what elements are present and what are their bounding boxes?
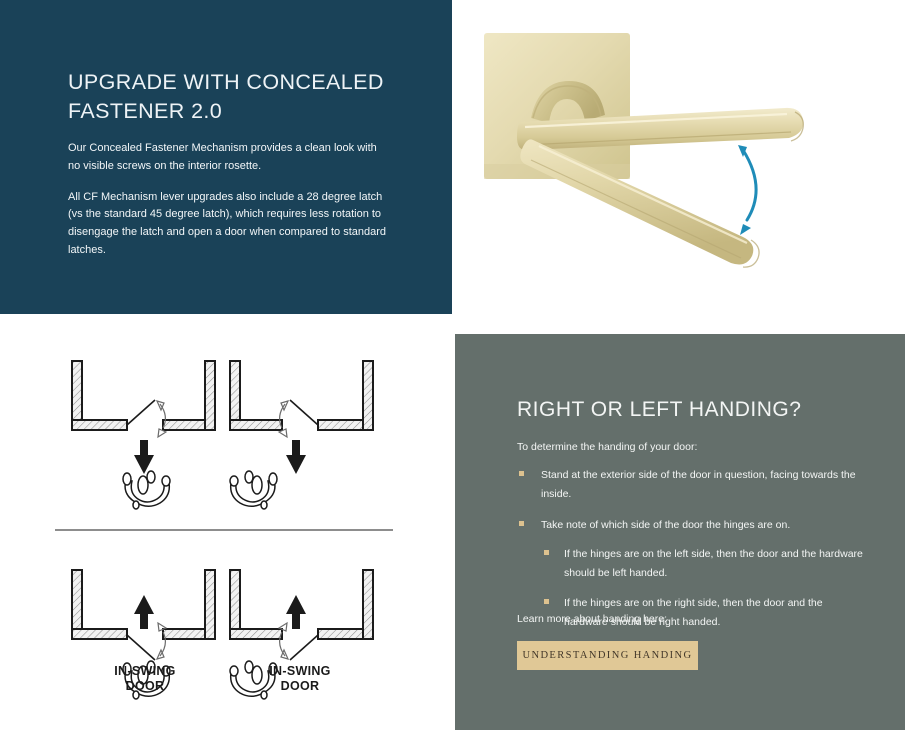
concealed-fastener-paragraph-2: All CF Mechanism lever upgrades also inc… — [68, 189, 386, 260]
diagram-quadrant-inswing-right — [230, 361, 373, 509]
handing-info-intro: To determine the handing of your door: — [517, 440, 867, 456]
swing-direction-arrow — [134, 440, 154, 474]
handing-diagram-panel: IN-SWING DOOR IN-SWING DOOR LEFT (LH) RI… — [0, 322, 452, 747]
right-hand-icon — [230, 471, 277, 509]
concealed-fastener-paragraph-1: Our Concealed Fastener Mechanism provide… — [68, 140, 386, 176]
sub-list-item-text: If the hinges are on the left side, then… — [564, 548, 863, 579]
marketing-page: UPGRADE WITH CONCEALED FASTENER 2.0 Our … — [0, 0, 905, 747]
quadrant-heading-inswing-right: IN-SWING DOOR — [255, 664, 345, 694]
sub-list-item: If the hinges are on the left side, then… — [541, 544, 867, 582]
diagram-quadrant-inswing-left — [72, 361, 215, 509]
understanding-handing-button[interactable]: Understanding Handing — [517, 641, 698, 670]
learn-more-text: Learn more about handing here: — [517, 613, 847, 625]
bullet-square-icon — [544, 550, 549, 555]
door-lever-illustration — [455, 0, 905, 318]
swing-direction-arrow — [286, 595, 306, 629]
swing-direction-arrow — [286, 440, 306, 474]
bullet-square-icon — [519, 521, 524, 526]
angle-arc — [743, 150, 756, 220]
list-item: Stand at the exterior side of the door i… — [517, 465, 867, 503]
swing-direction-arrow — [134, 595, 154, 629]
left-hand-icon — [123, 471, 170, 509]
diagram-divider — [55, 529, 393, 531]
list-item-text: Take note of which side of the door the … — [541, 519, 790, 531]
concealed-fastener-title: UPGRADE WITH CONCEALED FASTENER 2.0 — [68, 68, 388, 125]
quadrant-heading-inswing-left: IN-SWING DOOR — [100, 664, 190, 694]
concealed-fastener-body: Our Concealed Fastener Mechanism provide… — [68, 140, 386, 260]
handing-info-title: RIGHT OR LEFT HANDING? — [517, 398, 877, 422]
bullet-square-icon — [544, 599, 549, 604]
handing-diagram-graphics — [0, 322, 452, 747]
bullet-square-icon — [519, 471, 524, 476]
lever-arm-rotated — [520, 139, 753, 264]
lever-photo-panel: 28° — [455, 0, 905, 318]
sub-list-item: If the hinges are on the right side, the… — [541, 593, 867, 631]
list-item-text: Stand at the exterior side of the door i… — [541, 469, 856, 500]
concealed-fastener-panel: UPGRADE WITH CONCEALED FASTENER 2.0 Our … — [0, 0, 452, 314]
angle-arrow-head-bottom — [740, 224, 751, 235]
